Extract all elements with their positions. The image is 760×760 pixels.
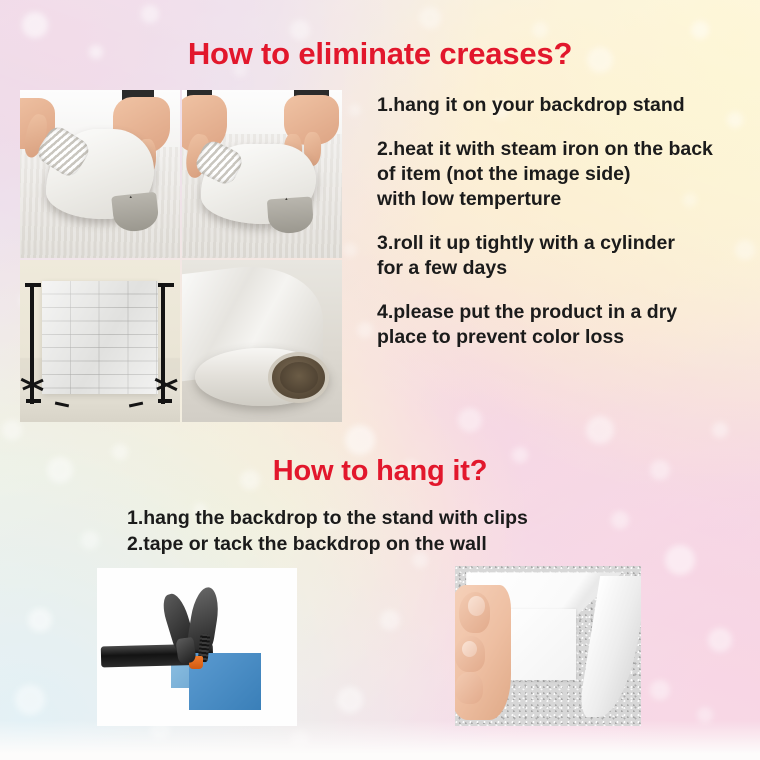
steps-eliminate-creases: 1.hang it on your backdrop stand 2.heat … [377, 93, 757, 350]
heading-how-to-hang: How to hang it? [0, 455, 760, 488]
step-line: of item (not the image side) [377, 162, 757, 187]
step-item: 3.roll it up tightly with a cylinder for… [377, 231, 757, 281]
step-item: 2.heat it with steam iron on the back of… [377, 137, 757, 212]
rolled-backdrop-photo [182, 260, 342, 422]
step-line: 2.heat it with steam iron on the back [377, 137, 757, 162]
backdrop-on-stand-photo [20, 260, 180, 422]
step-line: 1.hang it on your backdrop stand [377, 94, 685, 116]
infographic-page: How to eliminate creases? ▲ [0, 0, 760, 760]
step-line: place to prevent color loss [377, 325, 757, 350]
step-line: 1.hang the backdrop to the stand with cl… [127, 505, 727, 531]
steam-iron-photo-left: ▲ [20, 90, 180, 258]
step-line: for a few days [377, 256, 757, 281]
step-item: 1.hang it on your backdrop stand [377, 93, 757, 118]
steam-iron-photo-right: ▲ [182, 90, 342, 258]
step-item: 4.please put the product in a dry place … [377, 300, 757, 350]
adhesive-tape-photo [455, 566, 641, 726]
step-line: 2.tape or tack the backdrop on the wall [127, 531, 727, 557]
background-bottom-fade [0, 720, 760, 760]
steps-how-to-hang: 1.hang the backdrop to the stand with cl… [127, 505, 727, 557]
spring-clamp-photo [97, 568, 297, 726]
heading-eliminate-creases: How to eliminate creases? [0, 36, 760, 72]
step-line: with low temperture [377, 187, 757, 212]
step-line: 4.please put the product in a dry [377, 300, 757, 325]
step-line: 3.roll it up tightly with a cylinder [377, 231, 757, 256]
